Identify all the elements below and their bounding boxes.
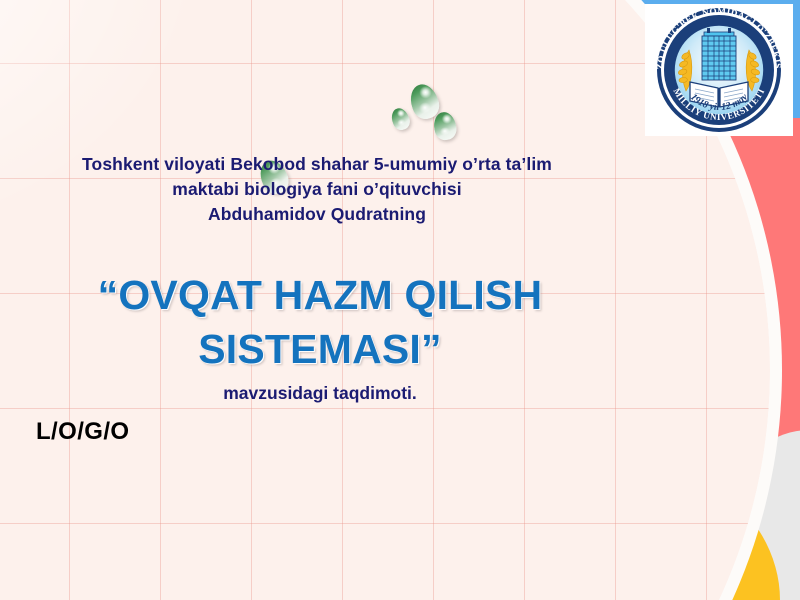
university-emblem: MIRZO ULUG'BEK NOMIDAGI O'ZBEKISTON MILL… — [645, 4, 793, 136]
title-line-1: “OVQAT HAZM QILISH — [20, 268, 620, 322]
slide-main-title: “OVQAT HAZM QILISH SISTEMASI” — [20, 268, 620, 376]
title-line-2: SISTEMASI” — [20, 322, 620, 376]
header-line-2: maktabi biologiya fani o’qituvchisi — [12, 177, 622, 202]
header-line-3: Abduhamidov Qudratning — [12, 202, 622, 227]
presentation-slide: MIRZO ULUG'BEK NOMIDAGI O'ZBEKISTON MILL… — [0, 0, 800, 600]
slide-subtitle: mavzusidagi taqdimoti. — [20, 383, 620, 404]
university-emblem-icon: MIRZO ULUG'BEK NOMIDAGI O'ZBEKISTON MILL… — [645, 4, 793, 136]
slide-header-text: Toshkent viloyati Bekobod shahar 5-umumi… — [12, 152, 622, 227]
logo-placeholder-text: L/O/G/O — [36, 418, 129, 446]
header-line-1: Toshkent viloyati Bekobod shahar 5-umumi… — [12, 152, 622, 177]
